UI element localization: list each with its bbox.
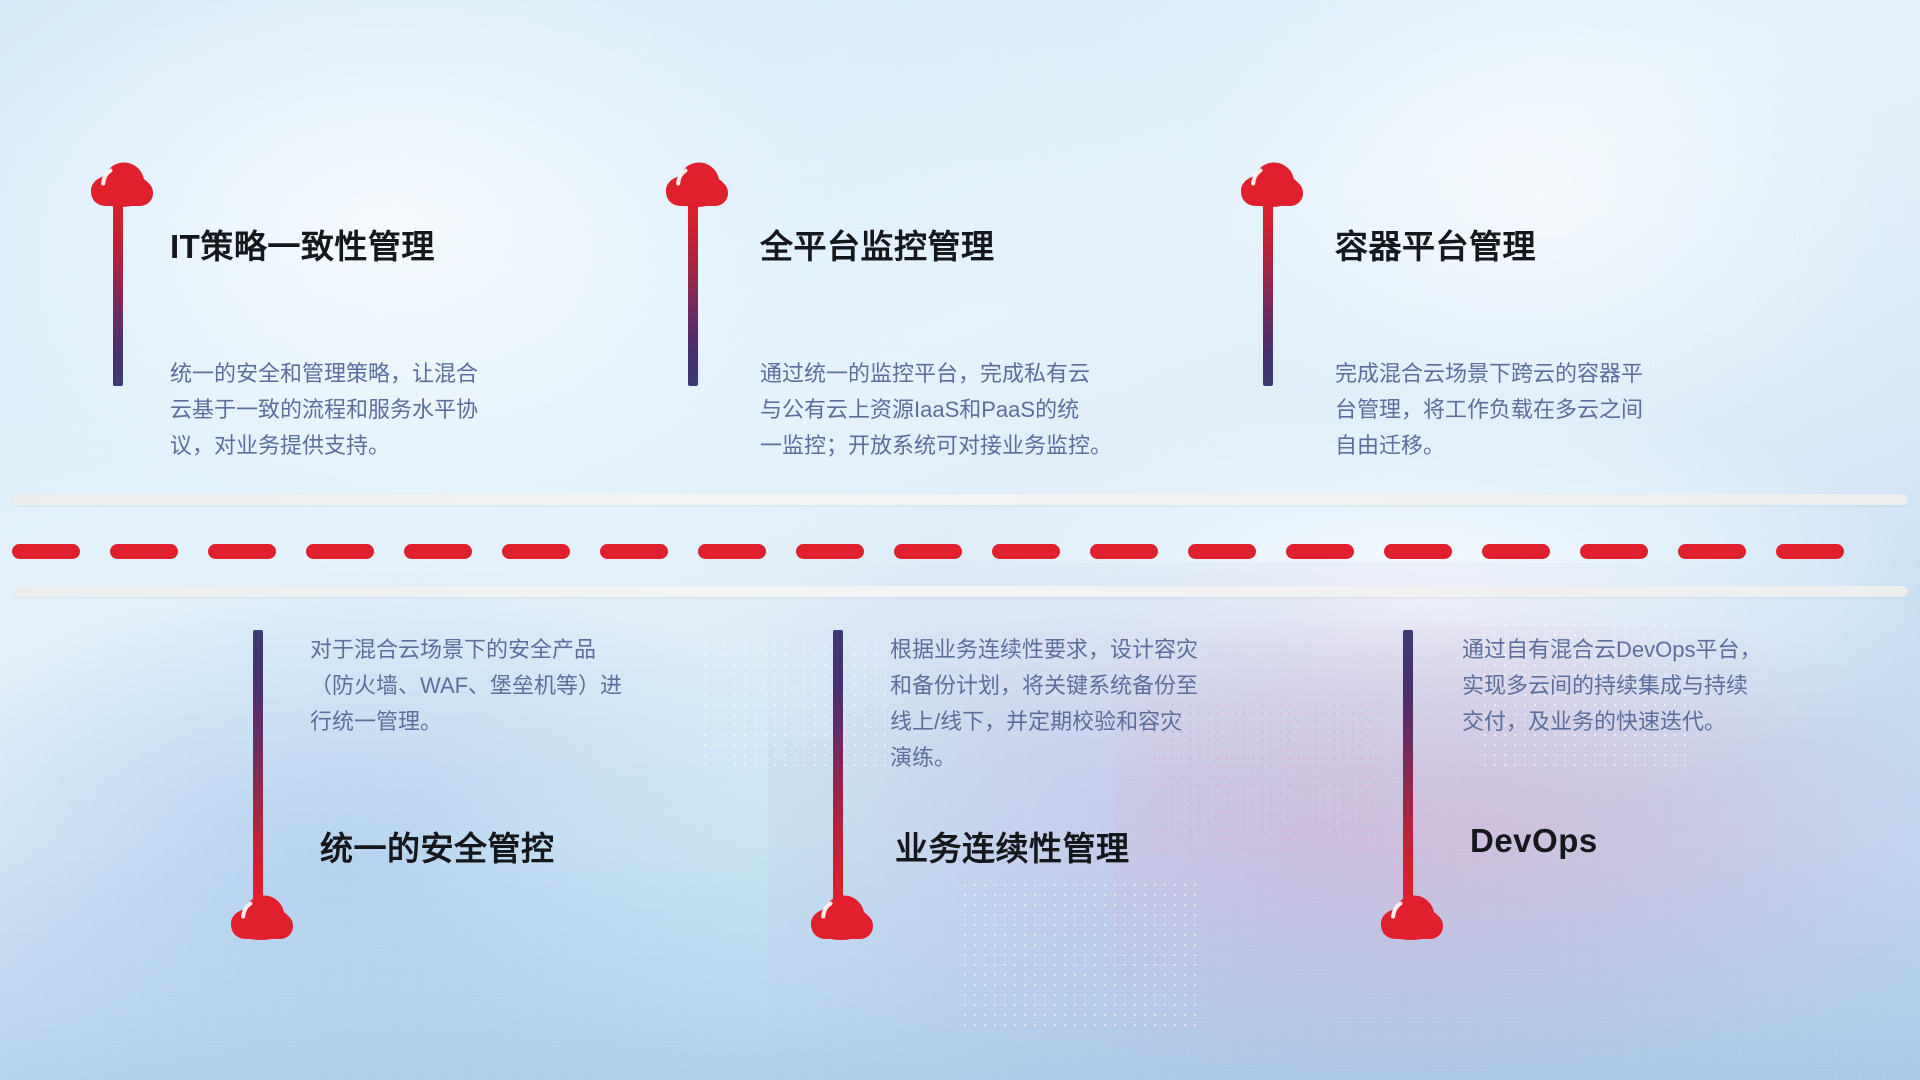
body-business-continuity: 根据业务连续性要求，设计容灾 和备份计划，将关键系统备份至 线上/线下，并定期校…: [890, 632, 1250, 776]
road-dash: [1090, 544, 1158, 559]
body-unified-security: 对于混合云场景下的安全产品 （防火墙、WAF、堡垒机等）进 行统一管理。: [310, 632, 670, 740]
body-line: 与公有云上资源IaaS和PaaS的统: [760, 392, 1120, 428]
road-dash: [208, 544, 276, 559]
body-line: 对于混合云场景下的安全产品: [310, 632, 670, 668]
body-line: 线上/线下，并定期校验和容灾: [890, 704, 1250, 740]
body-devops: 通过自有混合云DevOps平台， 实现多云间的持续集成与持续 交付，及业务的快速…: [1462, 632, 1822, 740]
road-dash: [796, 544, 864, 559]
road-dash: [1286, 544, 1354, 559]
body-line: 自由迁移。: [1335, 428, 1695, 464]
body-line: 议，对业务提供支持。: [170, 428, 530, 464]
road-dash: [502, 544, 570, 559]
stem-it-policy-consistency: [113, 200, 123, 386]
body-line: 台管理，将工作负载在多云之间: [1335, 392, 1695, 428]
body-container-platform: 完成混合云场景下跨云的容器平 台管理，将工作负载在多云之间 自由迁移。: [1335, 356, 1695, 464]
heading-unified-security: 统一的安全管控: [320, 822, 555, 870]
road-edge-line-top: [12, 494, 1908, 505]
road-dash: [404, 544, 472, 559]
cloud-icon: [1380, 893, 1444, 941]
body-line: 和备份计划，将关键系统备份至: [890, 668, 1250, 704]
infographic-canvas: IT策略一致性管理 统一的安全和管理策略，让混合 云基于一致的流程和服务水平协 …: [0, 0, 1920, 1080]
road-dash: [600, 544, 668, 559]
body-line: 云基于一致的流程和服务水平协: [170, 392, 530, 428]
road-dash: [992, 544, 1060, 559]
heading-full-platform-monitoring: 全平台监控管理: [760, 220, 995, 268]
road-edge-line-bottom: [12, 586, 1908, 597]
road-dash: [12, 544, 80, 559]
road-dash: [1776, 544, 1844, 559]
stem-devops: [1403, 630, 1413, 900]
body-line: 实现多云间的持续集成与持续: [1462, 668, 1822, 704]
cloud-icon: [810, 893, 874, 941]
road-dash: [306, 544, 374, 559]
body-line: 演练。: [890, 740, 1250, 776]
road-dash: [1384, 544, 1452, 559]
body-full-platform-monitoring: 通过统一的监控平台，完成私有云 与公有云上资源IaaS和PaaS的统 一监控；开…: [760, 356, 1120, 464]
heading-business-continuity: 业务连续性管理: [895, 822, 1130, 870]
heading-container-platform: 容器平台管理: [1335, 220, 1536, 268]
road-dash: [1580, 544, 1648, 559]
road-center-dashes: [0, 543, 1920, 559]
heading-devops: DevOps: [1470, 822, 1598, 860]
body-line: 根据业务连续性要求，设计容灾: [890, 632, 1250, 668]
stem-business-continuity: [833, 630, 843, 900]
road-dash: [1482, 544, 1550, 559]
stem-container-platform: [1263, 200, 1273, 386]
road-dash: [1188, 544, 1256, 559]
body-line: 交付，及业务的快速迭代。: [1462, 704, 1822, 740]
road-dash: [1678, 544, 1746, 559]
body-line: 通过自有混合云DevOps平台，: [1462, 632, 1822, 668]
stem-unified-security: [253, 630, 263, 900]
road-dash: [698, 544, 766, 559]
heading-it-policy-consistency: IT策略一致性管理: [170, 220, 435, 268]
cloud-icon: [230, 893, 294, 941]
body-line: 通过统一的监控平台，完成私有云: [760, 356, 1120, 392]
body-line: 行统一管理。: [310, 704, 670, 740]
body-line: 完成混合云场景下跨云的容器平: [1335, 356, 1695, 392]
road-dash: [894, 544, 962, 559]
body-it-policy-consistency: 统一的安全和管理策略，让混合 云基于一致的流程和服务水平协 议，对业务提供支持。: [170, 356, 530, 464]
body-line: 一监控；开放系统可对接业务监控。: [760, 428, 1120, 464]
body-line: （防火墙、WAF、堡垒机等）进: [310, 668, 670, 704]
body-line: 统一的安全和管理策略，让混合: [170, 356, 530, 392]
stem-full-platform-monitoring: [688, 200, 698, 386]
road-dash: [110, 544, 178, 559]
